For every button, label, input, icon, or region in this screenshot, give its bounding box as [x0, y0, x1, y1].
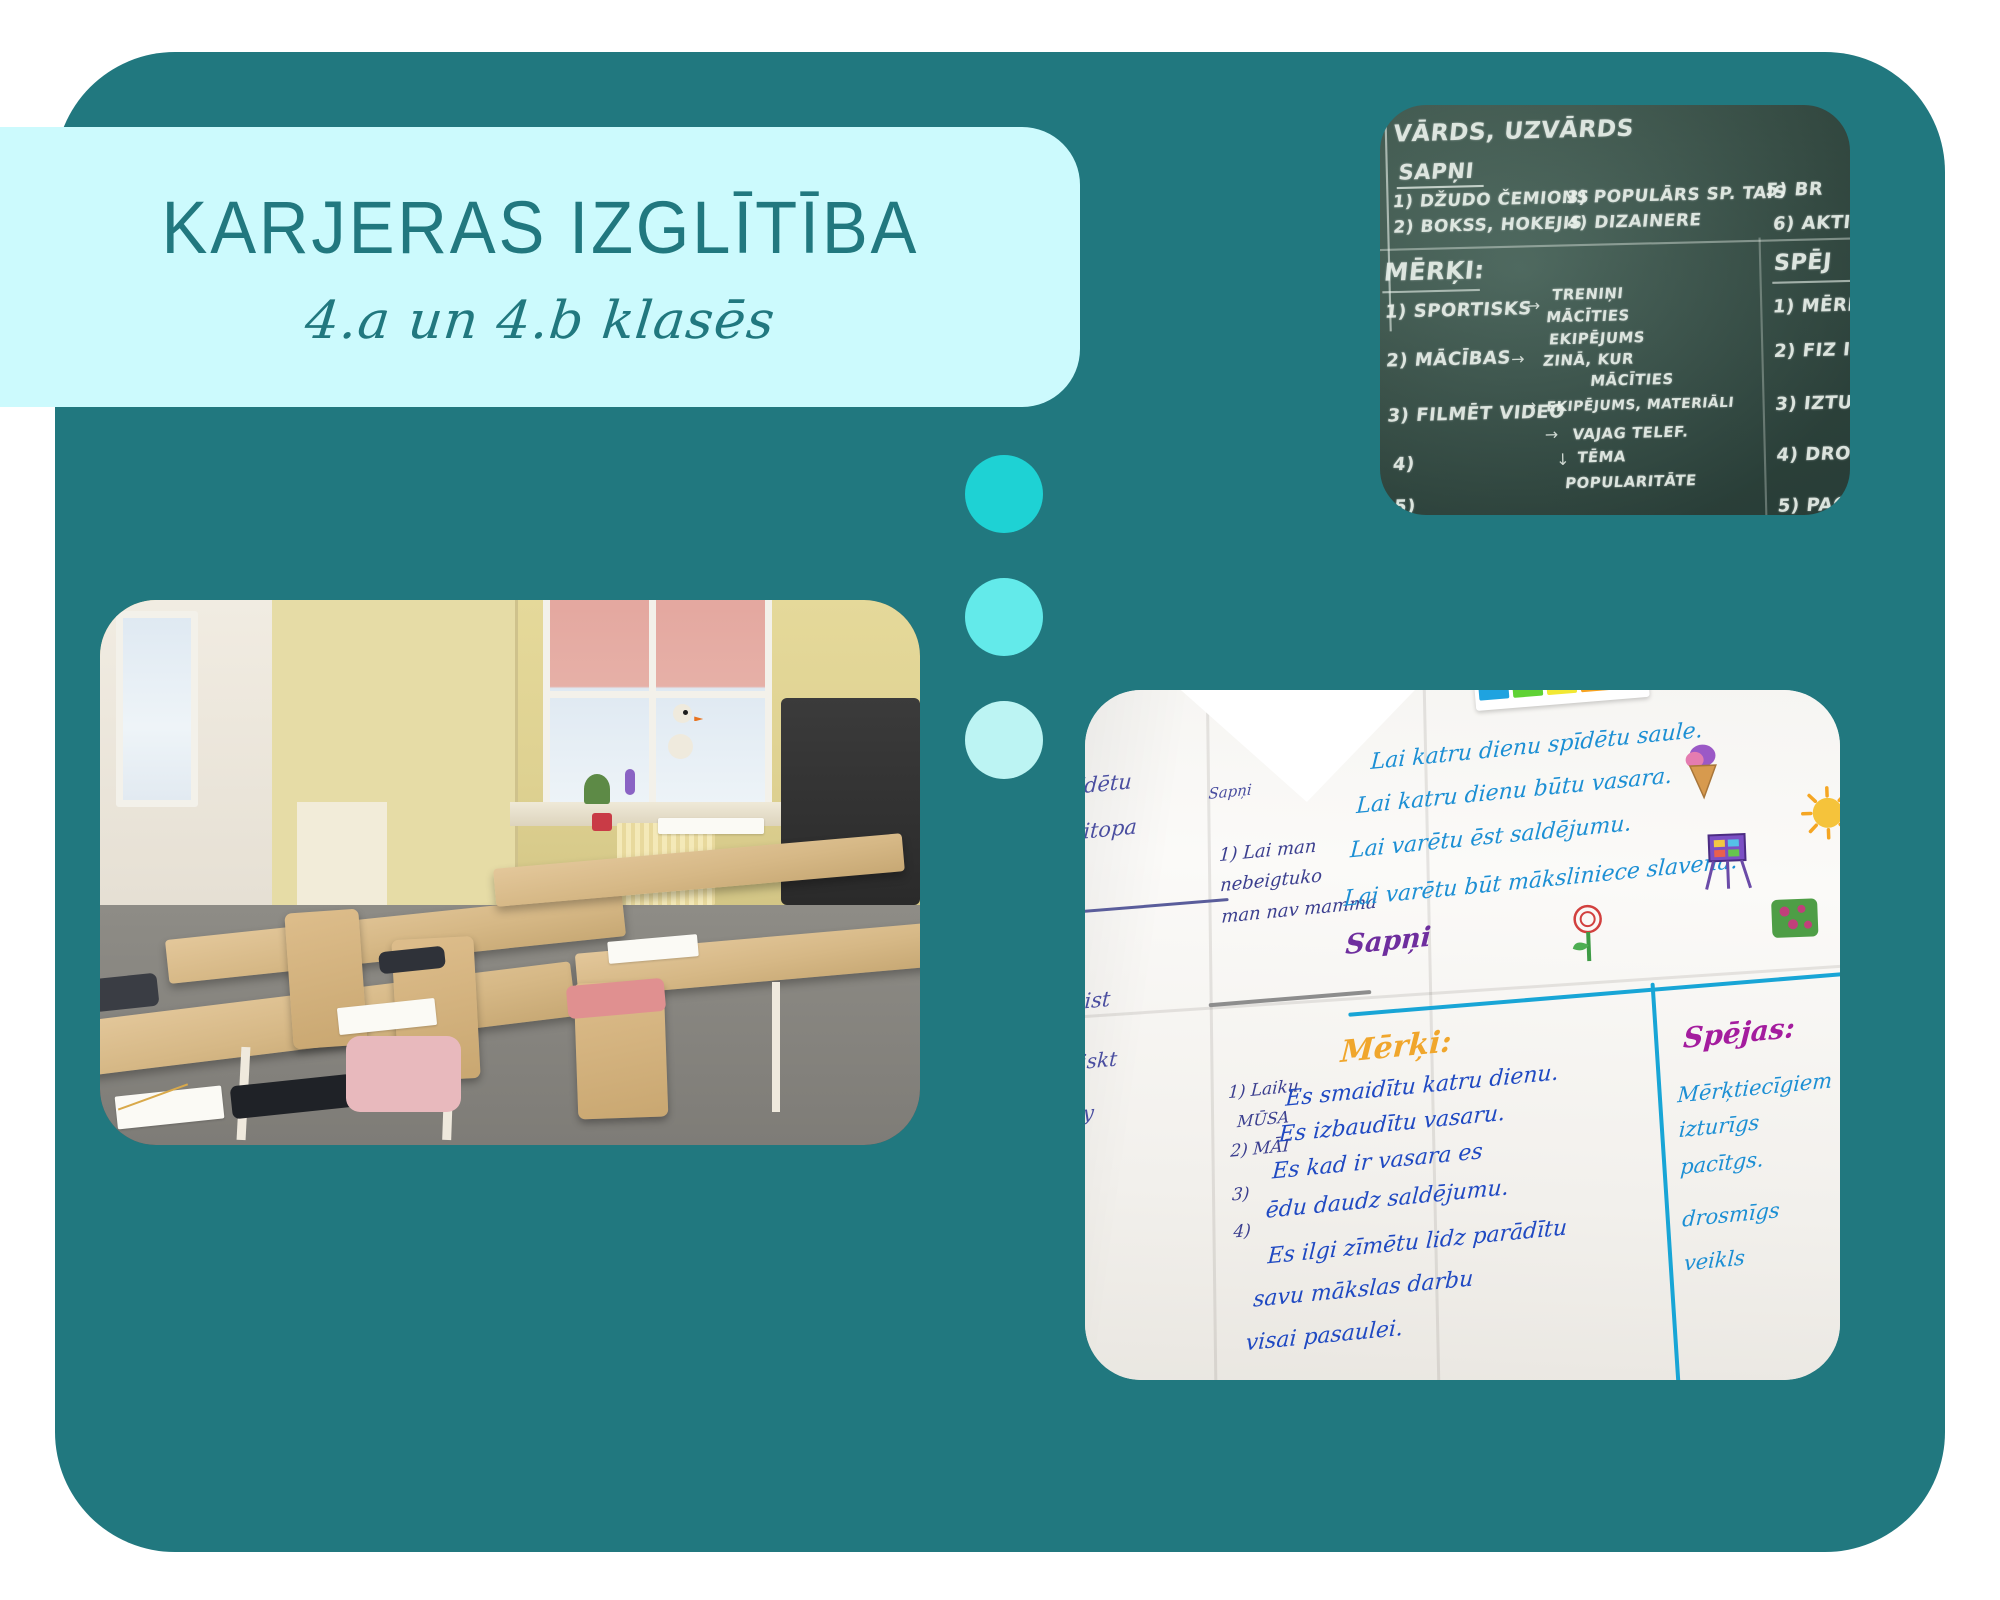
chalk-arrow-icon-4: → [1545, 425, 1559, 444]
classroom-window-right [543, 600, 773, 818]
chalk-goal-4: 4) [1392, 454, 1416, 476]
classroom-scene [100, 600, 920, 1145]
poster-left-fragment-2: eitopa [1085, 814, 1138, 845]
chalk-note-6: EKIPĒJUMS, MATERIĀLI [1546, 395, 1735, 416]
snowman-body-icon [668, 734, 693, 759]
chalk-divider-column [1758, 238, 1768, 515]
rose-doodle-icon [1564, 903, 1613, 972]
chalkboard-surface: VĀRDS, UZVĀRDS SAPŅI 1) DŽUDO ČEMIONS 2)… [1380, 105, 1850, 515]
poster-skill-4: drosmīgs [1681, 1199, 1780, 1233]
window-mullion-h [543, 691, 773, 698]
sticky-note-tabs [1470, 690, 1650, 712]
paper-fold-3 [1085, 963, 1840, 1020]
chalk-dream-1: 1) DŽUDO ČEMIONS [1392, 187, 1590, 212]
poster-dreams-label-small: Sapņi [1208, 781, 1252, 803]
title-card: KARJERAS IZGLĪTĪBA 4.a un 4.b klasēs [0, 127, 1080, 407]
desk-leg-4 [772, 982, 780, 1113]
window-mullion-v [649, 600, 656, 818]
chalk-goals-title: MĒRĶI: [1383, 257, 1486, 287]
watermelon-doodle-icon [1767, 895, 1821, 948]
poster-left-fragment-1: spīdētu [1085, 769, 1132, 801]
chalk-underline-skills [1772, 280, 1850, 284]
backpack-pink [346, 1036, 461, 1112]
snowman-head-icon [673, 704, 692, 723]
poster-left-fragment-6: izty [1085, 1100, 1095, 1128]
poster-goal-line-5: Es ilgi zīmētu lidz parādītu [1267, 1216, 1568, 1270]
chalkboard-photo: VĀRDS, UZVĀRDS SAPŅI 1) DŽUDO ČEMIONS 2)… [1380, 105, 1850, 515]
chalk-dream-5: 5) BR [1765, 179, 1824, 202]
poster-canvas: KARJERAS IZGLĪTĪBA 4.a un 4.b klasēs VĀR… [0, 0, 2000, 1600]
poster-divider-left [1085, 898, 1229, 916]
poster-skill-1: Mērķtiecīgiem [1676, 1068, 1832, 1107]
handwritten-poster-photo: spīdētu eitopa ķi ortist tīsiskt izty Sa… [1085, 690, 1840, 1380]
chalk-arrow-icon-3: → [1523, 396, 1537, 415]
poster-dream-left-1: 1) Lai man [1218, 836, 1317, 867]
poster-dream-line-3: Lai varētu ēst saldējumu. [1349, 811, 1632, 863]
poster-heading-dreams: Sapņi [1344, 922, 1431, 962]
chalk-arrow-icon-5: ↓ [1556, 450, 1570, 469]
chalk-note-2: MĀCĪTIES [1545, 308, 1630, 327]
sticky-tab-green [1508, 690, 1543, 699]
poster-heading-skills: Spējas: [1682, 1011, 1796, 1055]
poster-dream-left-2: nebeigtuko [1220, 866, 1323, 897]
poster-paper-sheet: spīdētu eitopa ķi ortist tīsiskt izty Sa… [1085, 690, 1840, 1380]
chalk-note-8: TĒMA [1576, 449, 1626, 467]
chalk-goal-2: 2) MĀCĪBAS [1385, 348, 1512, 372]
poster-left-fragment-4: ortist [1085, 987, 1111, 1017]
poster-goal-line-4: ēdu daudz saldējumu. [1265, 1175, 1509, 1224]
hyacinth-flower [625, 769, 635, 795]
page-subtitle: 4.a un 4.b klasēs [302, 291, 778, 351]
easel-doodle-icon [1699, 830, 1755, 897]
chalk-skill-4: 4) DROS [1776, 443, 1850, 466]
chalk-dream-6: 6) AKTI [1772, 212, 1850, 235]
plant-leaves [584, 774, 610, 804]
poster-skill-2: izturīgs [1678, 1111, 1760, 1143]
classroom-window-left [116, 611, 198, 807]
poster-goal-number-5: 4) [1233, 1222, 1252, 1244]
chalk-underline-goals [1382, 289, 1480, 294]
snowman-nose-icon [694, 716, 703, 721]
poster-left-fragment-5: tīsiskt [1085, 1046, 1118, 1076]
ice-cream-doodle-icon [1680, 742, 1726, 807]
chalk-note-7: VAJAG TELEF. [1572, 424, 1690, 444]
sill-papers [658, 818, 765, 834]
chalk-dream-3: 3) POPULĀRS SP. TAIS [1566, 182, 1788, 208]
poster-goal-line-7: visai pasaulei. [1245, 1316, 1404, 1356]
chalk-arrow-icon-1: → [1527, 296, 1541, 315]
sticky-tab-blue [1474, 690, 1509, 701]
decorative-dot-2 [965, 578, 1043, 656]
sun-doodle-icon [1796, 781, 1840, 850]
wall-notice [297, 802, 387, 906]
chalk-goal-3: 3) FILMĒT VIDEO [1386, 401, 1566, 427]
chalk-note-5: MĀCĪTIES [1589, 371, 1674, 390]
decorative-dot-3 [965, 701, 1043, 779]
poster-goal-number-4: 3) [1231, 1184, 1250, 1206]
chalk-skill-2: 2) FIZ IS [1773, 339, 1850, 362]
plant-pot [592, 813, 612, 831]
chalk-skills-title: SPĒJ [1773, 248, 1833, 275]
chalk-goal-1: 1) SPORTISKS [1384, 298, 1533, 323]
poster-divider-vertical [1651, 983, 1683, 1380]
poster-heading-goals: Mērķi: [1340, 1025, 1453, 1071]
chalk-note-9: POPULARITĀTE [1564, 472, 1697, 492]
sticky-tab-orange [1576, 690, 1611, 693]
classroom-photo [100, 600, 920, 1145]
chalk-arrow-icon-2: → [1511, 349, 1525, 368]
poster-goal-line-1: Es smaidītu katru dienu. [1285, 1061, 1560, 1113]
chalk-note-3: EKIPĒJUMS [1548, 329, 1646, 348]
chalk-dream-2: 2) BOKSS, HOKEJIS [1392, 212, 1583, 237]
poster-skill-3: pacītgs. [1679, 1148, 1764, 1180]
chalk-goal-5: 5) [1393, 496, 1417, 515]
chalk-skill-3: 3) IZTU [1774, 392, 1850, 415]
chalk-dream-4: 4) DIZAINERE [1566, 209, 1702, 232]
poster-goal-line-6: savu mākslas darbu [1252, 1267, 1474, 1313]
sticky-tab-yellow [1542, 690, 1577, 696]
chalk-note-4: ZINĀ, KUR [1542, 351, 1634, 370]
poster-goal-line-3: Es kad ir vasara es [1271, 1140, 1483, 1186]
decorative-dot-1 [965, 455, 1043, 533]
page-title: KARJERAS IZGLĪTĪBA [161, 191, 919, 265]
chalk-note-1: TRENIŅI [1551, 285, 1624, 304]
chalk-header: VĀRDS, UZVĀRDS [1392, 115, 1635, 147]
chalk-skill-1: 1) MĒRĶ [1772, 294, 1850, 317]
chalk-dreams-title: SAPŅI [1397, 158, 1475, 185]
chalk-skill-5: 5) PACIE [1777, 494, 1850, 515]
chalk-rule-left [1384, 119, 1391, 331]
poster-skill-5: veikls [1683, 1246, 1745, 1276]
